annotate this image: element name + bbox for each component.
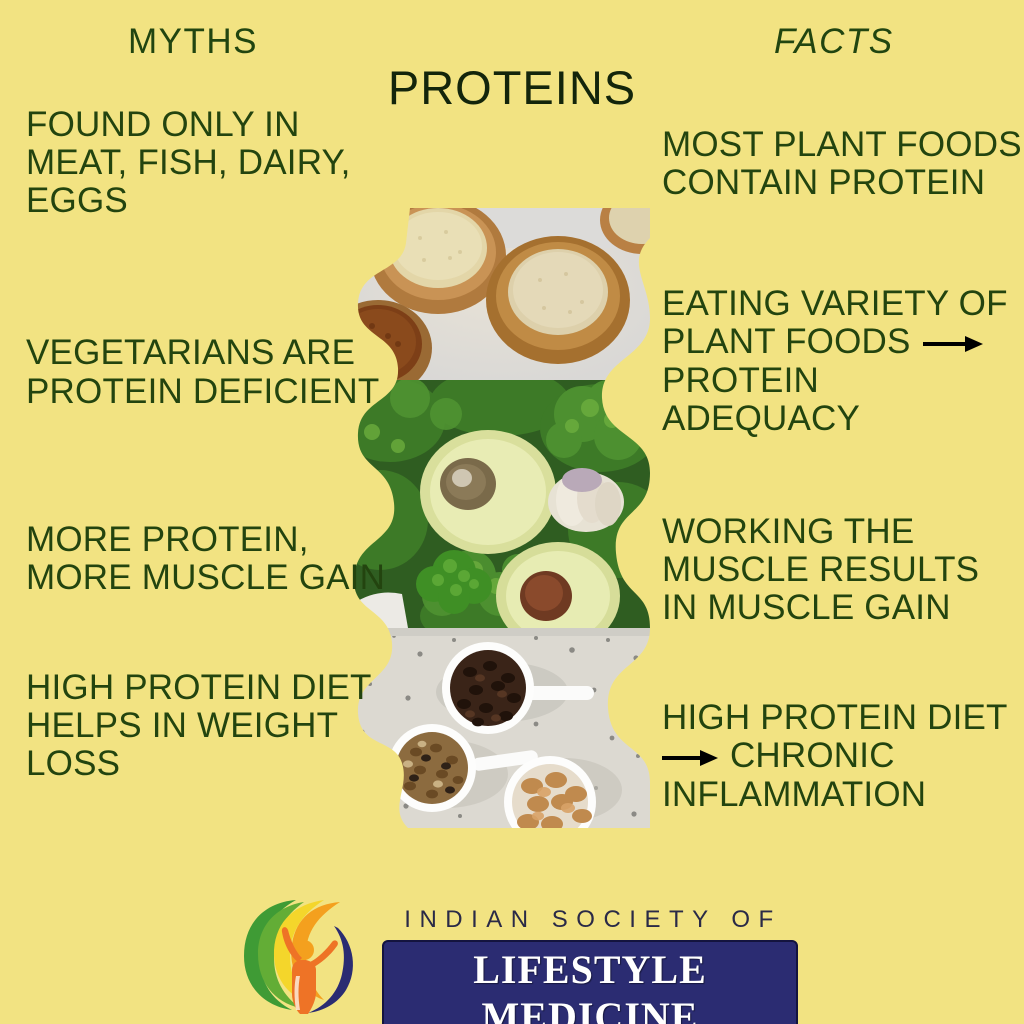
fact-item: EATING VARIETY OF PLANT FOODS PROTEIN AD… xyxy=(662,285,1022,438)
fact-text-before: HIGH PROTEIN DIET xyxy=(662,698,1008,737)
right-arrow-icon xyxy=(921,332,985,356)
fact-item: WORKING THE MUSCLE RESULTS IN MUSCLE GAI… xyxy=(662,513,1022,627)
fact-text-before: WORKING THE MUSCLE RESULTS IN MUSCLE GAI… xyxy=(662,512,979,627)
myth-item: HIGH PROTEIN DIET HELPS IN WEIGHT LOSS xyxy=(26,669,386,783)
logo-line-lifestyle-medicine: LIFESTYLE MEDICINE xyxy=(382,940,798,1024)
lifestyle-medicine-emblem-icon xyxy=(238,898,362,1016)
myths-column: FOUND ONLY IN MEAT, FISH, DAIRY, EGGS VE… xyxy=(26,106,386,783)
fact-item: HIGH PROTEIN DIET CHRONIC INFLAMMATION xyxy=(662,699,1022,813)
logo-text-block: INDIAN SOCIETY OF LIFESTYLE MEDICINE xyxy=(382,906,798,1024)
myths-column-heading: MYTHS xyxy=(128,22,258,62)
organization-logo: INDIAN SOCIETY OF LIFESTYLE MEDICINE xyxy=(238,898,798,1016)
photo-grains-in-wooden-bowls xyxy=(350,208,650,380)
logo-line-indian-society-of: INDIAN SOCIETY OF xyxy=(382,906,798,934)
fact-text-before: MOST PLANT FOODS CONTAIN PROTEIN xyxy=(662,125,1022,202)
photo-green-vegetables xyxy=(350,380,650,628)
facts-column-heading: FACTS xyxy=(774,22,894,62)
right-arrow-icon xyxy=(662,747,720,769)
fact-text-after: PROTEIN ADEQUACY xyxy=(662,361,860,438)
myth-item: FOUND ONLY IN MEAT, FISH, DAIRY, EGGS xyxy=(26,106,386,220)
myth-item: VEGETARIANS ARE PROTEIN DEFICIENT xyxy=(26,334,386,410)
myth-item: MORE PROTEIN, MORE MUSCLE GAIN xyxy=(26,521,386,597)
fact-item: MOST PLANT FOODS CONTAIN PROTEIN xyxy=(662,126,1022,202)
facts-column: MOST PLANT FOODS CONTAIN PROTEIN EATING … xyxy=(662,126,1022,814)
photo-legumes-in-bowls xyxy=(350,628,650,828)
infographic-poster: MYTHS FACTS PROTEINS FOUND ONLY IN MEAT,… xyxy=(0,0,1024,1024)
center-photo-strip xyxy=(350,208,650,828)
